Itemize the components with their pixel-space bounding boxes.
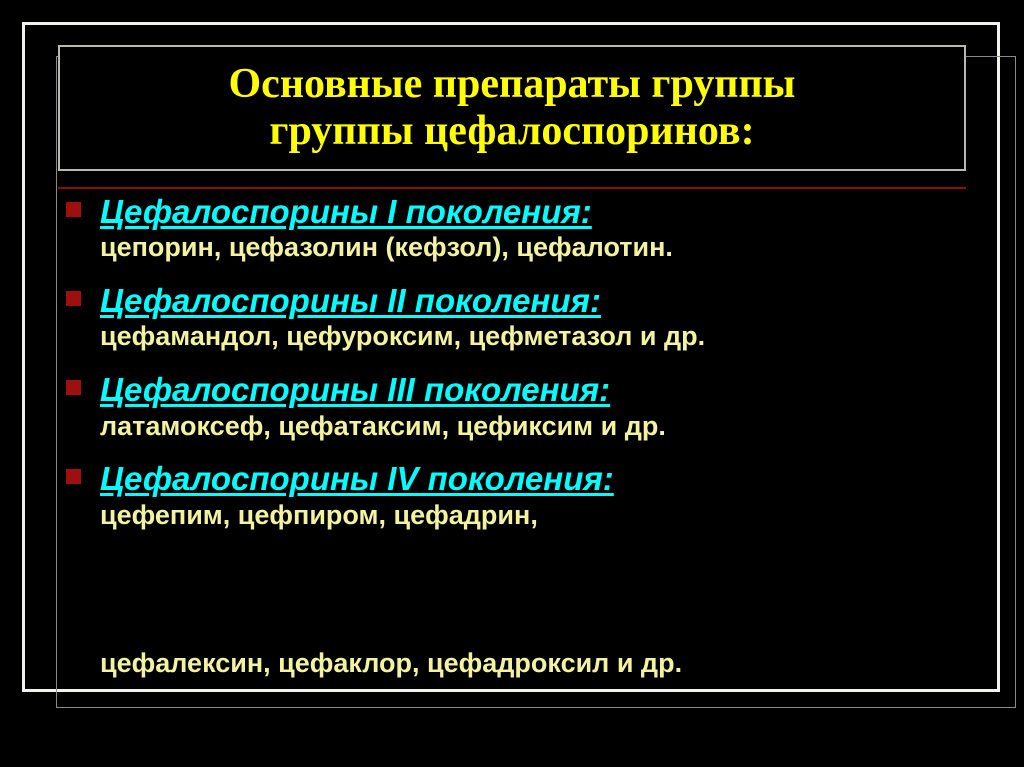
section-body: латамоксеф, цефатаксим, цефиксим и др. — [100, 411, 968, 443]
section-body-overflow: цефалексин, цефаклор, цефадроксил и др. — [100, 648, 1000, 680]
square-bullet-icon — [66, 469, 81, 484]
section-body: цефепим, цефпиром, цефадрин, — [100, 500, 968, 532]
list-item: Цефалоспорины III поколения: латамоксеф,… — [58, 371, 968, 442]
section-heading: Цефалоспорины III поколения: — [100, 371, 968, 409]
section-body: цепорин, цефазолин (кефзол), цефалотин. — [100, 232, 968, 264]
list-item: Цефалоспорины I поколения: цепорин, цефа… — [58, 193, 968, 264]
title-divider-rule — [58, 187, 966, 189]
title-box: Основные препараты группы группы цефалос… — [58, 45, 966, 171]
section-heading: Цефалоспорины I поколения: — [100, 193, 968, 231]
section-body: цефамандол, цефуроксим, цефметазол и др. — [100, 321, 968, 353]
title-line-1: Основные препараты группы — [70, 61, 954, 108]
square-bullet-icon — [66, 380, 81, 395]
page-title: Основные препараты группы группы цефалос… — [60, 61, 964, 155]
title-line-2: группы цефалоспоринов: — [70, 108, 954, 155]
square-bullet-icon — [66, 202, 81, 217]
list-item: Цефалоспорины IV поколения: цефепим, цеф… — [58, 460, 968, 531]
section-heading: Цефалоспорины IV поколения: — [100, 460, 968, 498]
section-heading: Цефалоспорины II поколения: — [100, 282, 968, 320]
slide-canvas: Основные препараты группы группы цефалос… — [0, 0, 1024, 767]
square-bullet-icon — [66, 291, 81, 306]
list-item: Цефалоспорины II поколения: цефамандол, … — [58, 282, 968, 353]
content-list: Цефалоспорины I поколения: цепорин, цефа… — [58, 191, 968, 532]
